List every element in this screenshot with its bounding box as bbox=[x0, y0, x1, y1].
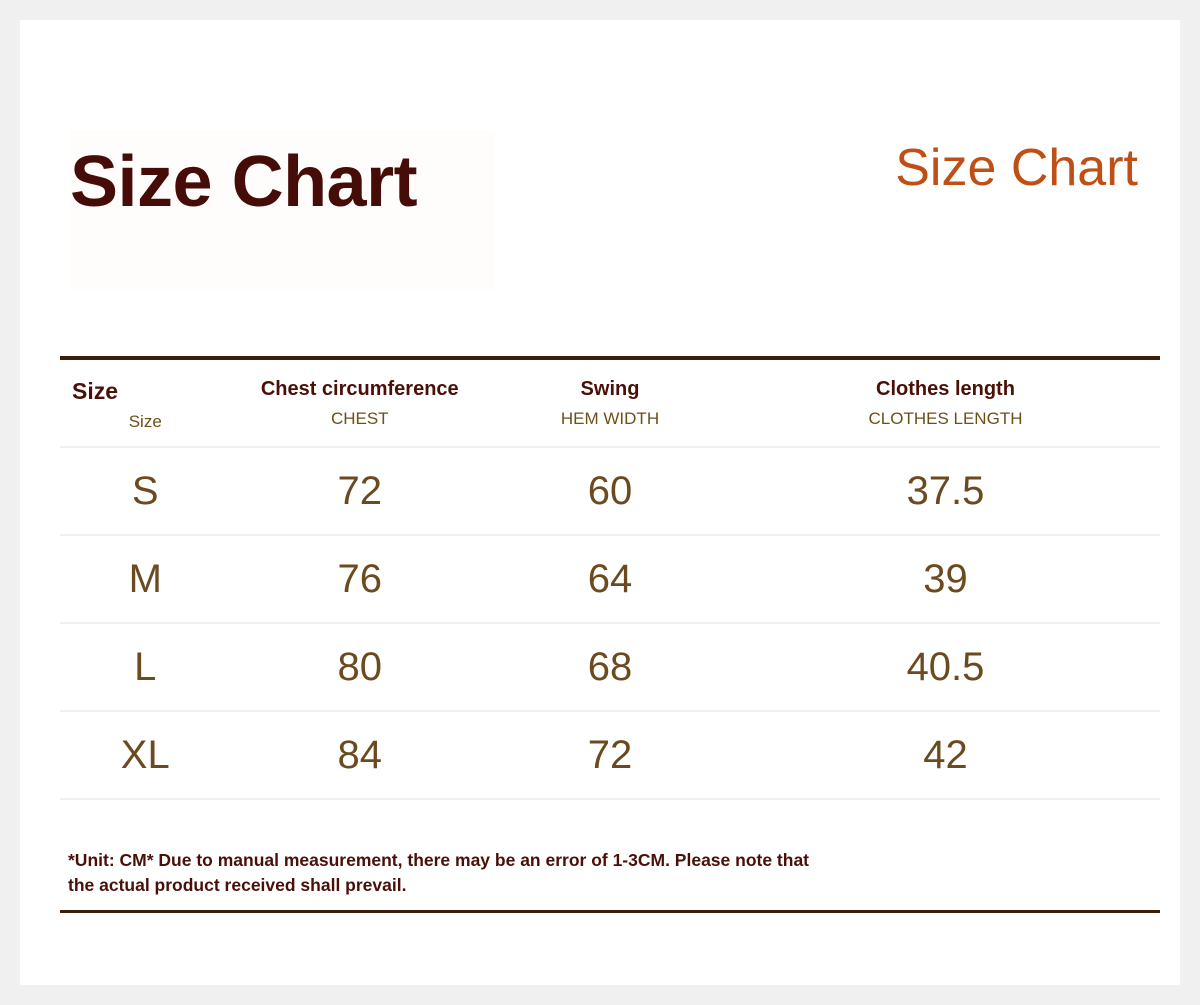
bottom-divider bbox=[60, 910, 1160, 913]
measurement-note-line-2: the actual product received shall prevai… bbox=[68, 873, 988, 898]
cell-length: 40.5 bbox=[731, 623, 1160, 711]
measurement-note-line-1: *Unit: CM* Due to manual measurement, th… bbox=[68, 848, 988, 873]
cell-size: L bbox=[60, 623, 231, 711]
table-row: S 72 60 37.5 bbox=[60, 447, 1160, 535]
column-header-clothes-length-primary: Clothes length bbox=[731, 378, 1160, 401]
cell-hem: 72 bbox=[489, 711, 731, 799]
cell-chest: 84 bbox=[231, 711, 490, 799]
column-header-size-primary: Size bbox=[60, 378, 231, 404]
column-header-swing-secondary: HEM WIDTH bbox=[489, 410, 731, 429]
size-chart-card: Size Chart Size Chart Size Size bbox=[20, 20, 1180, 985]
cell-size: XL bbox=[60, 711, 231, 799]
column-header-clothes-length: Clothes length CLOTHES LENGTH bbox=[731, 358, 1160, 447]
column-header-chest-primary: Chest circumference bbox=[231, 378, 490, 401]
page-title: Size Chart bbox=[70, 146, 417, 218]
column-header-swing: Swing HEM WIDTH bbox=[489, 358, 731, 447]
cell-length: 42 bbox=[731, 711, 1160, 799]
column-header-size-secondary: Size bbox=[60, 413, 231, 432]
column-header-swing-primary: Swing bbox=[489, 378, 731, 401]
cell-length: 39 bbox=[731, 535, 1160, 623]
column-header-clothes-length-secondary: CLOTHES LENGTH bbox=[731, 410, 1160, 429]
secondary-title: Size Chart bbox=[895, 142, 1138, 194]
cell-hem: 60 bbox=[489, 447, 731, 535]
cell-hem: 64 bbox=[489, 535, 731, 623]
cell-length: 37.5 bbox=[731, 447, 1160, 535]
size-table: Size Size Chest circumference CHEST Swin… bbox=[60, 356, 1160, 800]
table-row: M 76 64 39 bbox=[60, 535, 1160, 623]
cell-size: M bbox=[60, 535, 231, 623]
title-band: Size Chart Size Chart bbox=[20, 20, 1180, 350]
size-table-container: Size Size Chest circumference CHEST Swin… bbox=[60, 356, 1160, 800]
measurement-note: *Unit: CM* Due to manual measurement, th… bbox=[68, 848, 988, 899]
table-header-row: Size Size Chest circumference CHEST Swin… bbox=[60, 358, 1160, 447]
table-header: Size Size Chest circumference CHEST Swin… bbox=[60, 358, 1160, 447]
cell-chest: 80 bbox=[231, 623, 490, 711]
cell-hem: 68 bbox=[489, 623, 731, 711]
cell-size: S bbox=[60, 447, 231, 535]
column-header-size: Size Size bbox=[60, 358, 231, 447]
column-header-chest: Chest circumference CHEST bbox=[231, 358, 490, 447]
table-row: L 80 68 40.5 bbox=[60, 623, 1160, 711]
cell-chest: 76 bbox=[231, 535, 490, 623]
column-header-chest-secondary: CHEST bbox=[231, 410, 490, 429]
cell-chest: 72 bbox=[231, 447, 490, 535]
table-body: S 72 60 37.5 M 76 64 39 L 80 68 40.5 bbox=[60, 447, 1160, 799]
table-row: XL 84 72 42 bbox=[60, 711, 1160, 799]
